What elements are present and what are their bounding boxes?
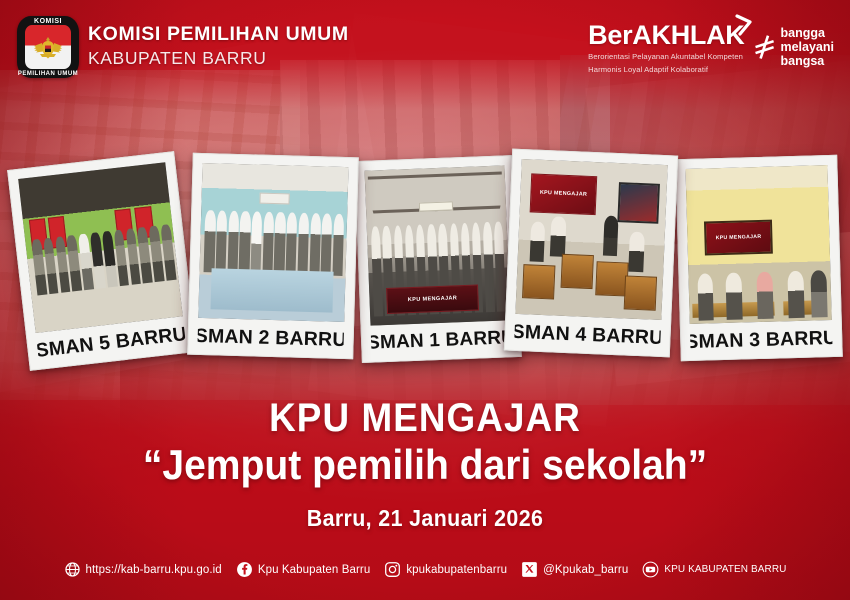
globe-icon — [64, 561, 81, 578]
organization-title: KOMISI PEMILIHAN UMUM KABUPATEN BARRU — [88, 24, 349, 69]
footer-label-website: https://kab-barru.kpu.go.id — [86, 564, 222, 576]
polaroid-sman-1[interactable]: KPU MENGAJAR SMAN 1 BARRU — [354, 155, 522, 363]
scene-green-classroom — [18, 162, 183, 333]
organization-line-2: KABUPATEN BARRU — [88, 48, 349, 69]
title-block: KPU MENGAJAR “Jemput pemilih dari sekola… — [0, 398, 850, 532]
footer-item-website[interactable]: https://kab-barru.kpu.go.id — [64, 561, 222, 578]
polaroid-photo-sman-1: KPU MENGAJAR — [365, 165, 511, 325]
footer-label-facebook: Kpu Kabupaten Barru — [258, 564, 371, 576]
polaroid-photo-sman-5 — [18, 162, 183, 333]
photo-banner-text: KPU MENGAJAR — [716, 234, 762, 241]
footer-item-instagram[interactable]: kpukabupatenbarru — [384, 561, 507, 578]
not-equal-icon — [754, 35, 775, 59]
footer-item-youtube[interactable]: KPU KABUPATEN BARRU — [642, 561, 786, 578]
berakhlak-values-line-1: Berorientasi Pelayanan Akuntabel Kompete… — [588, 52, 744, 62]
berakhlak-logo: BerAKHLAK Berorientasi Pelayanan Akuntab… — [588, 22, 834, 76]
main-title: KPU MENGAJAR — [34, 398, 816, 439]
photo-banner-sman-4: KPU MENGAJAR — [530, 173, 597, 214]
photo-banner-text: KPU MENGAJAR — [408, 295, 458, 303]
kpu-logo-text-top: KOMISI — [17, 18, 79, 25]
berakhlak-left: BerAKHLAK Berorientasi Pelayanan Akuntab… — [588, 22, 744, 76]
berakhlak-wordmark: BerAKHLAK — [588, 22, 744, 49]
berakhlak-word-text: BerAKHLAK — [588, 20, 744, 50]
scene-teal-classroom — [198, 163, 348, 322]
bangga-line-2: melayani — [780, 40, 834, 54]
photo-banner-sman-1: KPU MENGAJAR — [386, 284, 479, 314]
polaroid-caption: SMAN 4 BARRU — [514, 314, 661, 356]
bangga-line-1: bangga — [780, 26, 834, 40]
polaroid-caption: SMAN 1 BARRU — [371, 320, 512, 361]
scene-classroom-monitor: KPU MENGAJAR — [515, 159, 667, 320]
polaroid-caption: SMAN 2 BARRU — [197, 318, 344, 358]
bangga-tagline: bangga melayani bangsa — [780, 26, 834, 68]
organization-line-1: KOMISI PEMILIHAN UMUM — [88, 24, 349, 46]
event-date: Barru, 21 Januari 2026 — [30, 505, 821, 532]
footer-label-instagram: kpukabupatenbarru — [406, 564, 507, 576]
scene-school-hall: KPU MENGAJAR — [365, 165, 511, 325]
polaroid-sman-5[interactable]: SMAN 5 BARRU — [7, 151, 197, 371]
footer-label-x-twitter: @Kpukab_barru — [543, 564, 628, 576]
poster-canvas: KOMISI PEMILIHAN UMUM KOMISI PEMILIHAN U… — [0, 0, 850, 600]
scene-yellow-classroom: KPU MENGAJAR — [685, 165, 831, 324]
footer-item-facebook[interactable]: Kpu Kabupaten Barru — [236, 561, 371, 578]
kpu-logo-inner — [25, 25, 71, 69]
footer-item-x-twitter[interactable]: @Kpukab_barru — [521, 561, 628, 578]
polaroid-sman-2[interactable]: SMAN 2 BARRU — [187, 153, 359, 360]
social-footer: https://kab-barru.kpu.go.id Kpu Kabupate… — [0, 561, 850, 578]
berakhlak-values-line-2: Harmonis Loyal Adaptif Kolaboratif — [588, 65, 744, 75]
polaroid-photo-sman-4: KPU MENGAJAR — [515, 159, 667, 320]
bangga-melayani-bangsa-logo: bangga melayani bangsa — [754, 26, 834, 68]
garuda-icon — [33, 35, 63, 61]
footer-label-youtube: KPU KABUPATEN BARRU — [664, 564, 786, 575]
kpu-logo-text-bottom: PEMILIHAN UMUM — [17, 71, 79, 77]
polaroid-sman-3[interactable]: KPU MENGAJAR SMAN 3 BARRU — [675, 155, 843, 361]
subtitle: “Jemput pemilih dari sekolah” — [30, 443, 821, 487]
photo-banner-text: KPU MENGAJAR — [540, 190, 588, 198]
berakhlak-swoosh-icon — [735, 14, 753, 36]
kpu-logo-icon: KOMISI PEMILIHAN UMUM — [17, 16, 79, 78]
instagram-icon — [384, 561, 401, 578]
polaroid-photo-sman-2 — [198, 163, 348, 322]
facebook-icon — [236, 561, 253, 578]
youtube-icon — [642, 561, 659, 578]
polaroid-sman-4[interactable]: KPU MENGAJAR SMAN 4 BARRU — [504, 149, 678, 358]
polaroid-caption: SMAN 3 BARRU — [690, 320, 833, 360]
photo-banner-sman-3: KPU MENGAJAR — [704, 219, 773, 255]
x-twitter-icon — [521, 561, 538, 578]
poster-header: KOMISI PEMILIHAN UMUM KOMISI PEMILIHAN U… — [0, 0, 850, 92]
bangga-line-3: bangsa — [780, 54, 834, 68]
polaroid-photo-sman-3: KPU MENGAJAR — [685, 165, 831, 324]
